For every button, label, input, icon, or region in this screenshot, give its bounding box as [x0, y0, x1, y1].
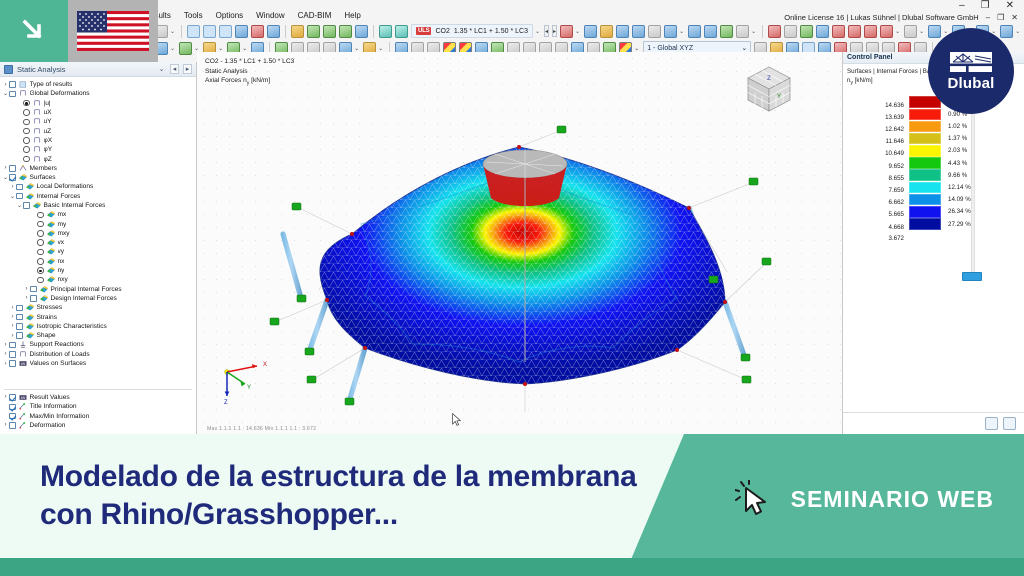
navigator-next-button[interactable]: ▸ — [183, 64, 192, 74]
tree-item[interactable]: ›Stresses — [0, 303, 196, 312]
axis-label-z: Z — [224, 400, 228, 406]
tree-radio[interactable] — [37, 230, 44, 237]
tree-twisty-icon[interactable]: ⌄ — [16, 202, 23, 209]
tree-twisty-icon[interactable]: › — [9, 333, 16, 339]
tree-checkbox[interactable] — [30, 286, 37, 293]
tree-item[interactable]: ›Principal Internal Forces — [0, 285, 196, 294]
legend-percentage: 12.14 % — [941, 184, 993, 191]
section-caret-icon[interactable]: ⌄ — [679, 28, 684, 35]
toolbar-separator — [285, 25, 286, 38]
tree-item[interactable]: ›Isotropic Characteristics — [0, 322, 196, 331]
solid-display-icon[interactable] — [632, 25, 645, 38]
banner-bottom-strip — [0, 558, 1024, 576]
window-titlebar: – ❐ ✕ — [564, 0, 1024, 12]
support-icon — [19, 341, 27, 348]
tree-twisty-icon[interactable]: › — [2, 422, 9, 428]
tree-item-label: Design Internal Forces — [51, 295, 117, 302]
tree-checkbox[interactable] — [9, 351, 16, 358]
arrow-down-right-icon — [21, 18, 47, 44]
tree-item[interactable]: my — [0, 219, 196, 228]
loads-icon[interactable] — [291, 25, 304, 38]
tree-radio[interactable] — [23, 100, 30, 107]
navigator-header: Static Analysis ⌄ ◂ ▸ — [0, 62, 196, 77]
close-icon[interactable]: ✕ — [1006, 1, 1014, 11]
tree-item-label: Isotropic Characteristics — [37, 323, 107, 330]
node-display-icon[interactable] — [584, 25, 597, 38]
tree-twisty-icon[interactable]: › — [9, 305, 16, 311]
tree-item[interactable]: ›Local Deformations — [0, 182, 196, 191]
surface-icon — [47, 258, 55, 265]
hidden-lines-icon[interactable] — [648, 25, 661, 38]
legend-value: 3.672 — [843, 235, 909, 242]
zoom-tool-icon[interactable] — [307, 25, 320, 38]
support-display-icon[interactable] — [560, 25, 573, 38]
legend-colour-swatch[interactable] — [909, 157, 941, 169]
measure-caret-icon[interactable]: ⌄ — [751, 28, 756, 35]
recalculate-icon[interactable] — [395, 25, 408, 38]
surface-icon — [26, 314, 34, 321]
tree-item[interactable]: nxy — [0, 275, 196, 284]
view-single-icon[interactable] — [187, 25, 200, 38]
view-split-icon[interactable] — [203, 25, 216, 38]
tree-item[interactable]: φZ — [0, 154, 196, 163]
legend-value: 11.646 — [843, 138, 909, 145]
tree-item[interactable]: ›Support Reactions — [0, 340, 196, 349]
menu-item-options[interactable]: Options — [216, 11, 244, 20]
tree-item-label: Result Values — [30, 394, 70, 401]
new-node-caret-icon[interactable]: ⌄ — [170, 45, 175, 52]
analysis-document-icon — [4, 65, 13, 74]
surface-icon — [19, 174, 27, 181]
checkbox-icon — [19, 81, 27, 88]
surface-icon — [26, 193, 34, 200]
legend-scroll-thumb[interactable] — [962, 272, 982, 281]
surface-icon — [47, 239, 55, 246]
legend-percentage: 1.37 % — [941, 135, 993, 142]
mouse-cursor-icon — [452, 413, 461, 426]
uls-badge: ULS — [416, 27, 431, 35]
tree-twisty-icon[interactable]: › — [2, 342, 9, 348]
tree-radio[interactable] — [23, 137, 30, 144]
tree-checkbox[interactable] — [9, 422, 16, 429]
title-icon — [19, 413, 27, 420]
brand-arrow-block — [0, 0, 68, 62]
click-cursor-icon — [735, 480, 773, 518]
viewport-label-analysis: Static Analysis — [205, 67, 294, 77]
numbering-x-icon[interactable] — [832, 25, 845, 38]
legend-colour-swatch[interactable] — [909, 194, 941, 206]
tree-item-label: Surfaces — [30, 174, 56, 181]
member-icon — [33, 100, 41, 107]
axis-triad: X Y Z — [215, 358, 281, 406]
tree-checkbox[interactable] — [9, 91, 16, 98]
tree-radio[interactable] — [37, 277, 44, 284]
toolbar-separator — [373, 25, 374, 38]
coordinate-system-value: 1 - Global XYZ — [647, 45, 693, 52]
surface-icon — [47, 267, 55, 274]
tree-item-label: Deformation — [30, 422, 66, 429]
surface-display-icon[interactable] — [616, 25, 629, 38]
tree-twisty-icon[interactable]: › — [2, 165, 9, 171]
axis-label-y: Y — [247, 385, 251, 391]
tree-radio[interactable] — [23, 109, 30, 116]
tree-checkbox[interactable] — [16, 193, 23, 200]
legend-edit-icon[interactable] — [1003, 417, 1016, 430]
numbering-caret-icon[interactable]: ⌄ — [895, 28, 900, 35]
tree-item-label: mx — [58, 211, 67, 218]
legend-percentage: 9.66 % — [941, 172, 993, 179]
banner-cta: SEMINARIO WEB — [735, 480, 994, 518]
tree-checkbox[interactable] — [9, 342, 16, 349]
grid-icon[interactable] — [784, 25, 797, 38]
tree-checkbox[interactable] — [16, 332, 23, 339]
model-viewport[interactable]: CO2 - 1.35 * LC1 + 1.50 * LC3 Static Ana… — [197, 52, 842, 434]
result-values-icon[interactable] — [720, 25, 733, 38]
title-icon — [19, 403, 27, 410]
minimize-icon[interactable]: – — [959, 1, 965, 11]
tree-item[interactable]: ⌄Internal Forces — [0, 192, 196, 201]
deformation-icon[interactable] — [704, 25, 717, 38]
legend-percentage: 27.29 % — [941, 221, 993, 228]
navigator-collapse-icon[interactable]: ⌄ — [157, 64, 166, 74]
tree-item[interactable]: ›Type of results — [0, 80, 196, 89]
legend-value: 13.639 — [843, 114, 909, 121]
tree-twisty-icon[interactable]: › — [2, 361, 9, 367]
quantity-unit: [kN/m] — [249, 77, 270, 84]
menu-item-tools[interactable]: Tools — [184, 11, 203, 20]
values-icon: kN — [19, 360, 27, 367]
svg-text:kN: kN — [21, 396, 26, 400]
tree-item[interactable]: ›Design Internal Forces — [0, 294, 196, 303]
tree-twisty-icon[interactable]: ⌄ — [2, 90, 9, 97]
load-case-prev-button[interactable]: ◂ — [544, 25, 549, 37]
tree-item[interactable]: ›Members — [0, 164, 196, 173]
snap-icon[interactable] — [800, 25, 813, 38]
view-cube-top-label: Z — [767, 76, 771, 82]
load-case-selector[interactable]: ULS CO2 1.35 * LC1 + 1.50 * LC3 — [411, 24, 533, 38]
release-caret-icon[interactable]: ⌄ — [378, 45, 383, 52]
numbering-z-icon[interactable] — [864, 25, 877, 38]
visibility-icon[interactable] — [904, 25, 917, 38]
load-case-next-button[interactable]: ▸ — [552, 25, 557, 37]
menu-item-window[interactable]: Window — [256, 11, 284, 20]
svg-text:kN: kN — [21, 362, 26, 366]
tree-item-label: Distribution of Loads — [30, 351, 90, 358]
tree-item[interactable]: ⌄Basic Internal Forces — [0, 201, 196, 210]
tree-item[interactable]: mxy — [0, 229, 196, 238]
tree-item-label: Local Deformations — [37, 183, 94, 190]
surface-icon — [26, 304, 34, 311]
view-cube-front-label: Y — [777, 94, 781, 100]
tree-radio[interactable] — [23, 156, 30, 163]
legend-colour-swatch[interactable] — [909, 133, 941, 145]
tree-twisty-icon[interactable]: › — [9, 323, 16, 329]
tree-item-label: Shape — [37, 332, 56, 339]
legend-value: 14.636 — [843, 102, 909, 109]
tree-item-label: uZ — [44, 128, 52, 135]
results-tree-bottom[interactable]: ›kNResult ValuesTitle InformationMax/Min… — [0, 393, 196, 434]
line-hinge-caret-icon[interactable]: ⌄ — [354, 45, 359, 52]
tree-checkbox[interactable] — [16, 184, 23, 191]
tree-item[interactable]: nx — [0, 257, 196, 266]
result-diagram-caret-icon[interactable]: ⌄ — [634, 45, 639, 52]
numbering-all-icon[interactable] — [880, 25, 893, 38]
load-case-formula: 1.35 * LC1 + 1.50 * LC3 — [454, 28, 528, 35]
tree-radio[interactable] — [37, 267, 44, 274]
control-panel-body: 14.6360.75 %13.6390.90 %12.6421.02 %11.6… — [843, 91, 1024, 412]
legend-colour-swatch[interactable] — [909, 169, 941, 181]
axis-label-x: X — [263, 362, 267, 368]
surface-icon — [47, 248, 55, 255]
legend-colour-swatch[interactable] — [909, 96, 941, 108]
tree-checkbox[interactable] — [9, 174, 16, 181]
tree-twisty-icon[interactable]: ⌄ — [2, 174, 9, 181]
tree-twisty-icon[interactable]: › — [23, 286, 30, 292]
surface-icon — [33, 202, 41, 209]
legend-colour-swatch[interactable] — [909, 109, 941, 121]
line-display-icon[interactable] — [600, 25, 613, 38]
measure-icon[interactable] — [736, 25, 749, 38]
numbering-y-icon[interactable] — [848, 25, 861, 38]
tree-item[interactable]: vx — [0, 238, 196, 247]
tree-item[interactable]: uX — [0, 108, 196, 117]
member-icon — [33, 128, 41, 135]
surface-icon — [47, 276, 55, 283]
tree-item[interactable]: ›Strains — [0, 312, 196, 321]
layers-icon[interactable] — [928, 25, 941, 38]
members-icon — [19, 165, 27, 172]
tree-item-label: Members — [30, 165, 57, 172]
document-minimize-icon[interactable]: – — [986, 13, 990, 22]
navigator-prev-button[interactable]: ◂ — [170, 64, 179, 74]
member-icon — [33, 146, 41, 153]
tree-item-label: Title Information — [30, 403, 77, 410]
legend-colour-swatch[interactable] — [909, 206, 941, 218]
tree-item-label: Type of results — [30, 81, 73, 88]
mesh-icon[interactable] — [768, 25, 781, 38]
undo-caret-icon[interactable]: ⌄ — [170, 28, 175, 35]
member-icon — [33, 156, 41, 163]
surface-icon — [26, 323, 34, 330]
tree-twisty-icon[interactable]: › — [9, 184, 16, 190]
surface-icon — [47, 211, 55, 218]
tree-item-label: uX — [44, 109, 52, 116]
tree-checkbox[interactable] — [16, 314, 23, 321]
tree-item-label: Values on Surfaces — [30, 360, 87, 367]
navigator-panel: Static Analysis ⌄ ◂ ▸ ›Type of results⌄G… — [0, 62, 197, 434]
tree-item[interactable]: ›kNValues on Surfaces — [0, 359, 196, 368]
tree-twisty-icon[interactable]: ⌄ — [9, 193, 16, 200]
control-panel: Control Panel Surfaces | Internal Forces… — [842, 52, 1024, 434]
tree-radio[interactable] — [37, 249, 44, 256]
tree-twisty-icon[interactable]: › — [9, 314, 16, 320]
tree-radio[interactable] — [23, 128, 30, 135]
tree-radio[interactable] — [23, 119, 30, 126]
toolbar-separator — [762, 25, 763, 38]
pan-icon[interactable] — [339, 25, 352, 38]
tree-checkbox[interactable] — [23, 202, 30, 209]
menubar: esults Tools Options Window CAD-BIM Help — [150, 9, 361, 22]
new-line-icon[interactable] — [179, 42, 192, 55]
usa-flag-icon — [77, 11, 149, 51]
tree-item[interactable]: ›Deformation — [0, 421, 196, 430]
tree-item[interactable]: uY — [0, 117, 196, 126]
tree-checkbox[interactable] — [16, 323, 23, 330]
tree-item[interactable]: ›Distribution of Loads — [0, 350, 196, 359]
support-caret-icon[interactable]: ⌄ — [575, 28, 580, 35]
tree-item[interactable]: |u| — [0, 99, 196, 108]
legend-value: 10.649 — [843, 150, 909, 157]
legend-colour-swatch[interactable] — [909, 218, 941, 230]
legend-colour-swatch[interactable] — [909, 229, 941, 241]
tree-checkbox[interactable] — [9, 360, 16, 367]
tree-item-label: vy — [58, 248, 65, 255]
tree-item[interactable]: ⌄Surfaces — [0, 173, 196, 182]
object-info-icon[interactable] — [816, 25, 829, 38]
legend-value: 6.662 — [843, 199, 909, 206]
tree-checkbox[interactable] — [9, 394, 16, 401]
array-icon[interactable] — [1000, 25, 1013, 38]
new-line-caret-icon[interactable]: ⌄ — [194, 45, 199, 52]
tree-item-label: φY — [44, 146, 53, 153]
new-solid-caret-icon[interactable]: ⌄ — [242, 45, 247, 52]
legend-percentage: 2.03 % — [941, 147, 993, 154]
tree-item-label: Support Reactions — [30, 341, 84, 348]
tree-radio[interactable] — [37, 221, 44, 228]
legend-colour-swatch[interactable] — [909, 121, 941, 133]
legend-value: 7.659 — [843, 187, 909, 194]
webinar-banner: Modelado de la estructura de la membrana… — [0, 434, 1024, 576]
view-cube-icon[interactable]: Z Y — [738, 58, 800, 120]
tree-item[interactable]: ny — [0, 266, 196, 275]
menu-item-cad-bim[interactable]: CAD-BIM — [298, 11, 332, 20]
title-icon — [19, 422, 27, 429]
tree-checkbox[interactable] — [9, 413, 16, 420]
dlubal-mark-icon — [947, 51, 995, 73]
menu-item-help[interactable]: Help — [344, 11, 360, 20]
tree-item-label: uY — [44, 118, 52, 125]
license-text: Online License 16 | Lukas Sühnel | Dluba… — [784, 13, 978, 22]
legend-value: 9.652 — [843, 163, 909, 170]
tree-twisty-icon[interactable]: › — [2, 82, 9, 88]
tree-radio[interactable] — [37, 212, 44, 219]
tree-checkbox[interactable] — [9, 165, 16, 172]
load-case-code: CO2 — [435, 28, 449, 35]
tree-item-label: Strains — [37, 314, 58, 321]
tree-item[interactable]: ›Shape — [0, 331, 196, 340]
visibility-caret-icon[interactable]: ⌄ — [919, 28, 924, 35]
values-icon: kN — [19, 394, 27, 401]
rotate-icon[interactable] — [323, 25, 336, 38]
tree-item[interactable]: ›kNResult Values — [0, 393, 196, 402]
tree-checkbox[interactable] — [9, 404, 16, 411]
surface-icon — [47, 230, 55, 237]
tree-radio[interactable] — [37, 239, 44, 246]
legend-percentage: 4.43 % — [941, 160, 993, 167]
load-case-caret-icon[interactable]: ⌄ — [535, 28, 540, 35]
tree-item-label: Max/Min Information — [30, 413, 90, 420]
tree-item-label: φX — [44, 137, 53, 144]
surface-icon — [47, 221, 55, 228]
table-icon[interactable] — [267, 25, 280, 38]
member-result-icon[interactable] — [688, 25, 701, 38]
tree-checkbox[interactable] — [9, 81, 16, 88]
member-icon — [33, 137, 41, 144]
legend-colour-swatch[interactable] — [909, 145, 941, 157]
legend-percentage: 26.34 % — [941, 208, 993, 215]
colour-scale-legend[interactable]: 14.6360.75 %13.6390.90 %12.6421.02 %11.6… — [843, 99, 1024, 243]
toolbar-separator — [181, 25, 182, 38]
tree-radio[interactable] — [23, 146, 30, 153]
tree-item[interactable]: ⌄Global Deformations — [0, 89, 196, 98]
tree-item[interactable]: vy — [0, 247, 196, 256]
chevron-down-icon: ⌄ — [741, 44, 747, 52]
legend-percentage: 1.02 % — [941, 123, 993, 130]
tree-item-label: Global Deformations — [30, 90, 90, 97]
tree-item-label: φZ — [44, 156, 52, 163]
legend-percentage: 14.09 % — [941, 196, 993, 203]
tree-twisty-icon[interactable]: › — [2, 351, 9, 357]
print-icon[interactable] — [251, 25, 264, 38]
tree-item[interactable]: mx — [0, 210, 196, 219]
maximize-icon[interactable]: ❐ — [981, 1, 990, 11]
tree-item[interactable]: uZ — [0, 126, 196, 135]
membrane-structure-model[interactable] — [257, 112, 777, 412]
document-close-icon[interactable]: ✕ — [1011, 13, 1018, 22]
legend-settings-icon[interactable] — [985, 417, 998, 430]
fit-view-icon[interactable] — [355, 25, 368, 38]
tree-item[interactable]: φX — [0, 136, 196, 145]
tree-radio[interactable] — [37, 258, 44, 265]
legend-scroll-track[interactable] — [971, 103, 975, 275]
render-surface-icon[interactable] — [235, 25, 248, 38]
rfem-application-window: – ❐ ✕ Online License 16 | Lukas Sühnel |… — [0, 0, 1024, 434]
viewport-minmax-status: Max 1.1.1 1.1 : 14.636 Min 1.1.1 1.1 : 3… — [207, 426, 316, 432]
legend-row[interactable]: 3.672 — [843, 233, 1024, 243]
tree-item-label: nxy — [58, 276, 68, 283]
tree-twisty-icon[interactable]: › — [2, 394, 9, 400]
section-display-icon[interactable] — [664, 25, 677, 38]
quantity-prefix: Axial Forces n — [205, 77, 247, 84]
member-icon — [33, 109, 41, 116]
member-icon — [19, 351, 27, 358]
surface-icon — [40, 295, 48, 302]
tree-item[interactable]: Max/Min Information — [0, 411, 196, 420]
results-tree[interactable]: ›Type of results⌄Global Deformations|u|u… — [0, 77, 196, 386]
array-caret-icon[interactable]: ⌄ — [1015, 28, 1020, 35]
view-panel-icon[interactable] — [219, 25, 232, 38]
tree-checkbox[interactable] — [16, 305, 23, 312]
legend-value: 8.655 — [843, 175, 909, 182]
tree-divider — [4, 389, 192, 390]
tree-item[interactable]: φY — [0, 145, 196, 154]
control-panel-footer — [843, 412, 1024, 434]
tree-checkbox[interactable] — [30, 295, 37, 302]
tree-item[interactable]: Title Information — [0, 402, 196, 411]
tree-item-label: nx — [58, 258, 65, 265]
surface-icon — [40, 286, 48, 293]
legend-colour-swatch[interactable] — [909, 182, 941, 194]
tree-item-label: Basic Internal Forces — [44, 202, 106, 209]
new-surface-caret-icon[interactable]: ⌄ — [218, 45, 223, 52]
legend-value: 4.668 — [843, 224, 909, 231]
document-restore-icon[interactable]: ❐ — [997, 13, 1004, 22]
tree-item-label: Internal Forces — [37, 193, 81, 200]
legend-value: 5.665 — [843, 211, 909, 218]
tree-twisty-icon[interactable]: › — [23, 295, 30, 301]
calculate-icon[interactable] — [379, 25, 392, 38]
member-icon — [33, 118, 41, 125]
